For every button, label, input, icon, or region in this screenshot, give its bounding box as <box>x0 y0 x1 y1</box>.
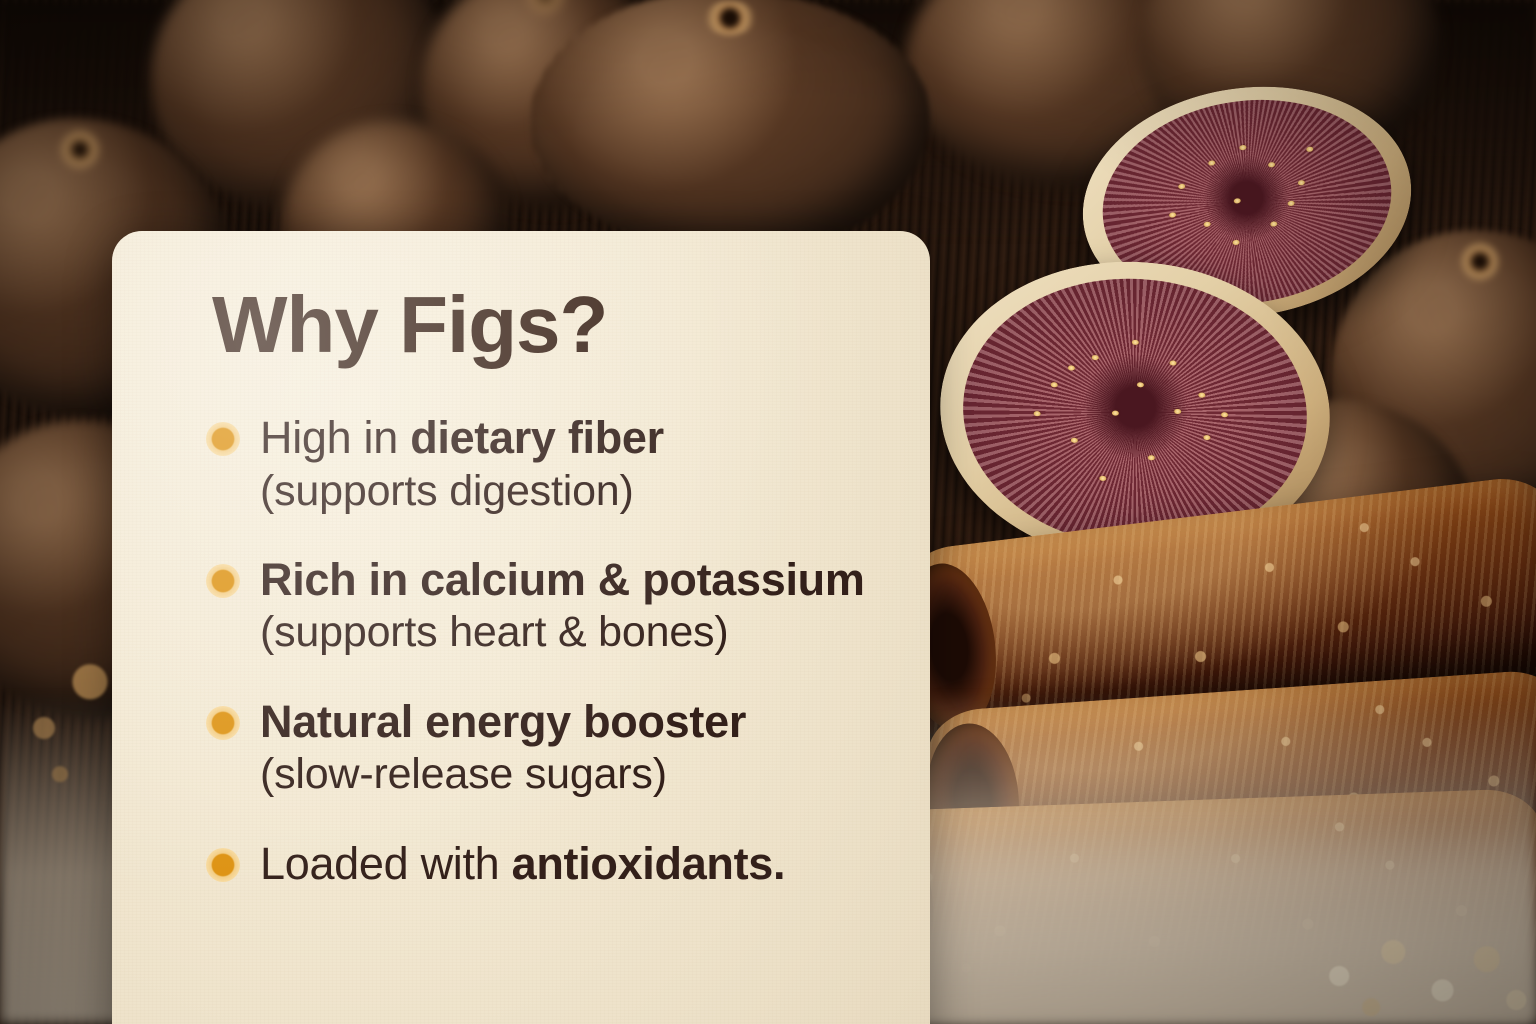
list-item: Natural energy booster (slow-release sug… <box>206 697 890 801</box>
benefits-list: High in dietary fiber (supports digestio… <box>206 413 890 888</box>
fig-stem-icon <box>529 0 562 11</box>
benefit-headline: Rich in calcium & potassium <box>260 555 865 605</box>
benefit-text: High in dietary fiber (supports digestio… <box>260 413 664 517</box>
benefit-lead: High in <box>260 412 410 463</box>
card-title: Why Figs? <box>212 285 890 365</box>
sugar-crystals <box>1290 904 1536 1024</box>
benefit-subtext: (supports digestion) <box>260 465 664 517</box>
list-item: Rich in calcium & potassium (supports he… <box>206 555 890 659</box>
benefit-headline: Loaded with antioxidants. <box>260 839 785 889</box>
benefit-lead: Loaded with <box>260 838 512 889</box>
benefit-text: Loaded with antioxidants. <box>260 839 785 889</box>
fig-stem-icon <box>1461 242 1500 281</box>
benefit-subtext: (slow-release sugars) <box>260 748 746 800</box>
bullet-dot-icon <box>206 706 240 740</box>
benefit-emphasis: dietary fiber <box>410 412 664 463</box>
fig-stem-icon <box>704 1 756 35</box>
bullet-dot-icon <box>206 564 240 598</box>
benefit-text: Rich in calcium & potassium (supports he… <box>260 555 865 659</box>
bullet-dot-icon <box>206 422 240 456</box>
infographic-stage: Why Figs? High in dietary fiber (support… <box>0 0 1536 1024</box>
benefit-headline: Natural energy booster <box>260 697 746 747</box>
benefit-emphasis: antioxidants. <box>512 838 786 889</box>
bullet-dot-icon <box>206 848 240 882</box>
fig-stem-icon <box>61 130 100 169</box>
info-card: Why Figs? High in dietary fiber (support… <box>112 231 930 1024</box>
benefit-text: Natural energy booster (slow-release sug… <box>260 697 746 801</box>
list-item: Loaded with antioxidants. <box>206 839 890 889</box>
benefit-headline: High in dietary fiber <box>260 413 664 463</box>
list-item: High in dietary fiber (supports digestio… <box>206 413 890 517</box>
benefit-subtext: (supports heart & bones) <box>260 606 865 658</box>
